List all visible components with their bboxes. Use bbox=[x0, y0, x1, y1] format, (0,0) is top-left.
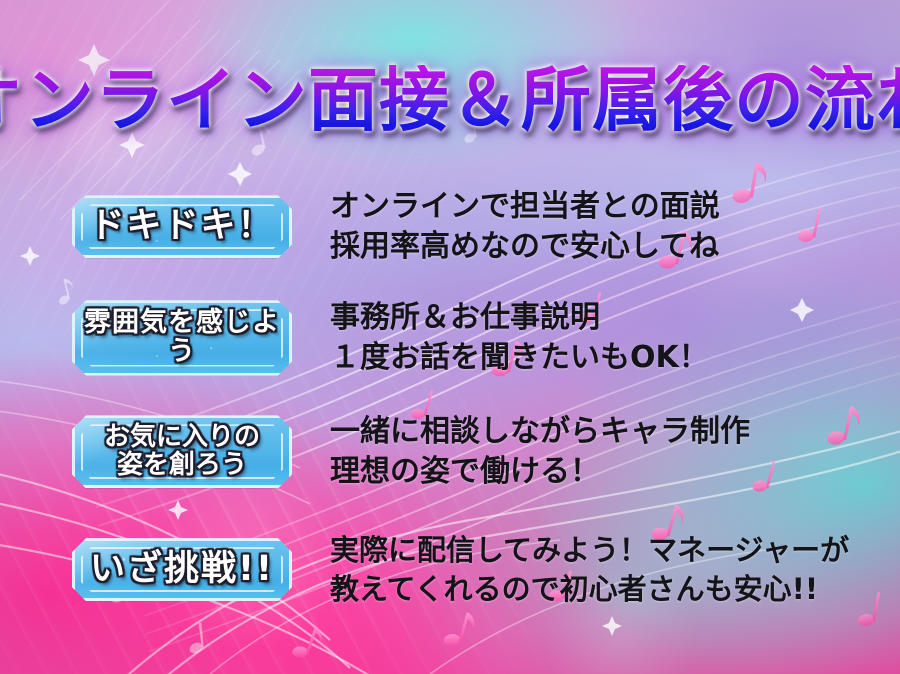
step-badge-label-3: お気に入りの 姿を創ろう bbox=[104, 424, 260, 479]
step-row-2: 雰囲気を感じよう 事務所＆お仕事説明 １度お話を聞きたいもOK！ bbox=[0, 298, 900, 378]
step-badge-label-2: 雰囲気を感じよう bbox=[83, 309, 281, 366]
step-badge-label-4: いざ挑戦!! bbox=[90, 551, 274, 588]
step-badge-1: ドキドキ！ bbox=[72, 195, 292, 258]
step-description-1: オンラインで担当者との面説 採用率高めなので安心してね bbox=[330, 187, 720, 267]
step-row-1: ドキドキ！ オンラインで担当者との面説 採用率高めなので安心してね bbox=[0, 187, 900, 267]
step-row-3: お気に入りの 姿を創ろう 一緒に相談しながらキャラ制作 理想の姿で働ける！ bbox=[0, 412, 900, 492]
page-title: オンライン面接＆所属後の流れ bbox=[0, 65, 900, 135]
step-badge-3: お気に入りの 姿を創ろう bbox=[72, 415, 292, 488]
title-container: オンライン面接＆所属後の流れ オンライン面接＆所属後の流れ bbox=[0, 52, 900, 148]
step-description-2: 事務所＆お仕事説明 １度お話を聞きたいもOK！ bbox=[330, 298, 709, 378]
step-description-4: 実際に配信してみよう！マネージャーが 教えてくれるので初心者さんも安心!! bbox=[330, 531, 849, 608]
promo-graphic: オンライン面接＆所属後の流れ オンライン面接＆所属後の流れ ドキドキ！ オンライ… bbox=[0, 0, 900, 674]
step-badge-label-1: ドキドキ！ bbox=[89, 208, 274, 245]
step-badge-4: いざ挑戦!! bbox=[72, 538, 292, 601]
step-badge-2: 雰囲気を感じよう bbox=[72, 300, 292, 375]
step-description-3: 一緒に相談しながらキャラ制作 理想の姿で働ける！ bbox=[330, 412, 750, 492]
step-row-4: いざ挑戦!! 実際に配信してみよう！マネージャーが 教えてくれるので初心者さんも… bbox=[0, 531, 900, 608]
